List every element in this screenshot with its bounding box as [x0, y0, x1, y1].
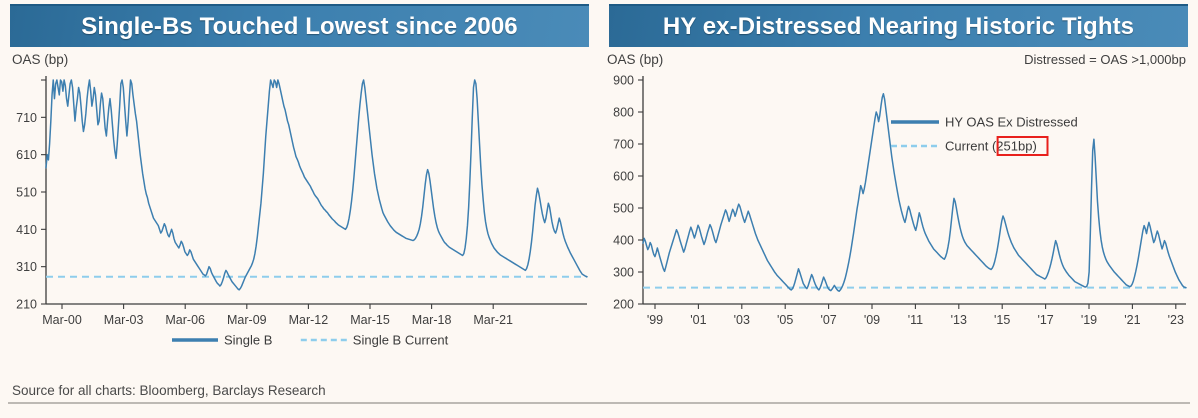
y-axis-unit-right: OAS (bp) [607, 52, 663, 67]
legend-label: HY OAS Ex Distressed [945, 115, 1078, 130]
panel-title-bar-left: Single-Bs Touched Lowest since 2006 [10, 4, 589, 47]
chart-hy-ex-distressed: 200300400500600700800900'99'01'03'05'07'… [599, 66, 1198, 366]
x-tick-label: '11 [908, 313, 923, 327]
x-tick-label: '17 [1037, 313, 1053, 327]
x-tick-label: '13 [951, 313, 967, 327]
x-tick-label: '07 [820, 313, 836, 327]
y-tick-label: 300 [613, 266, 634, 280]
page-title-left: Single-Bs Touched Lowest since 2006 [81, 13, 518, 41]
y-tick-label: 500 [613, 202, 634, 216]
y-tick-label: 600 [613, 170, 634, 184]
y-tick-label: 310 [16, 260, 37, 274]
y-tick-label: 610 [16, 148, 37, 162]
x-tick-label: Mar-00 [42, 313, 82, 327]
y-tick-label: 700 [613, 138, 634, 152]
x-tick-label: '21 [1124, 313, 1140, 327]
footer-divider [8, 402, 1190, 404]
y-tick-label: 410 [16, 223, 37, 237]
x-tick-label: Mar-21 [473, 313, 513, 327]
x-tick-label: Mar-06 [165, 313, 205, 327]
chart-single-b: 210310410510610710Mar-00Mar-03Mar-06Mar-… [0, 66, 599, 366]
series-line-single-b [46, 80, 587, 290]
y-tick-label: 710 [16, 111, 37, 125]
y-axis-unit-left: OAS (bp) [12, 52, 68, 67]
charts-container: Single-Bs Touched Lowest since 2006 OAS … [0, 0, 1198, 380]
x-tick-label: '99 [647, 313, 663, 327]
source-note: Source for all charts: Bloomberg, Barcla… [12, 383, 326, 398]
page-title-right: HY ex-Distressed Nearing Historic Tights [663, 13, 1134, 41]
legend-label: Single B Current [353, 333, 449, 348]
x-tick-label: '15 [994, 313, 1010, 327]
legend-label: Current (251bp) [945, 139, 1037, 154]
legend-label: Single B [224, 333, 272, 348]
x-tick-label: '19 [1081, 313, 1097, 327]
x-tick-label: Mar-18 [412, 313, 452, 327]
x-tick-label: '01 [690, 313, 706, 327]
x-tick-label: Mar-09 [227, 313, 267, 327]
y-tick-label: 210 [16, 298, 37, 312]
y-tick-label: 800 [613, 106, 634, 120]
distressed-definition-note: Distressed = OAS >1,000bp [1024, 52, 1186, 67]
y-tick-label: 200 [613, 298, 634, 312]
y-tick-label: 510 [16, 186, 37, 200]
x-tick-label: '23 [1168, 313, 1184, 327]
x-tick-label: '05 [777, 313, 793, 327]
x-tick-label: '03 [734, 313, 750, 327]
panel-hy-ex-distressed: HY ex-Distressed Nearing Historic Tights… [599, 0, 1198, 380]
panel-single-b: Single-Bs Touched Lowest since 2006 OAS … [0, 0, 599, 380]
x-tick-label: '09 [864, 313, 880, 327]
x-tick-label: Mar-15 [350, 313, 390, 327]
x-tick-label: Mar-12 [289, 313, 329, 327]
y-tick-label: 400 [613, 234, 634, 248]
y-tick-label: 900 [613, 74, 634, 88]
x-tick-label: Mar-03 [104, 313, 144, 327]
panel-title-bar-right: HY ex-Distressed Nearing Historic Tights [609, 4, 1188, 47]
